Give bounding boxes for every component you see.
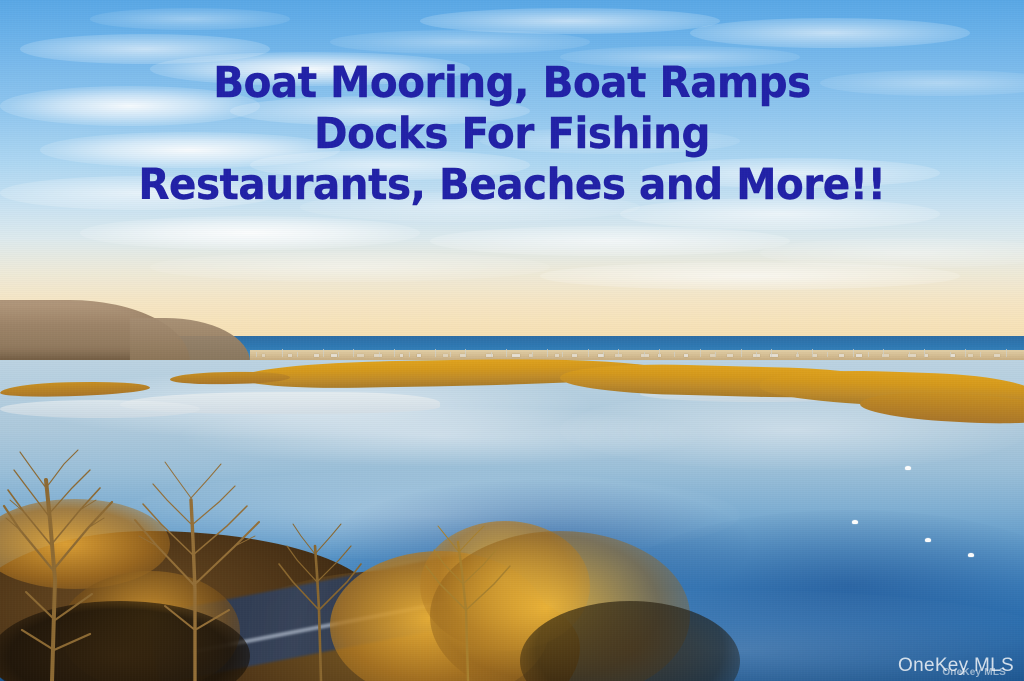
sailboat-mast xyxy=(491,352,492,357)
sailboat-mast xyxy=(256,352,257,357)
sailboat-mast xyxy=(562,352,563,357)
shore-building xyxy=(288,354,292,357)
sailboat-mast xyxy=(603,352,604,357)
sailboat-mast xyxy=(1006,349,1007,357)
sailboat-mast xyxy=(532,352,533,357)
sailboat-mast xyxy=(353,349,354,357)
bare-tree-small xyxy=(255,470,385,681)
listing-photo: Boat Mooring, Boat Ramps Docks For Fishi… xyxy=(0,0,1024,681)
shore-building xyxy=(357,354,364,357)
sailboat-mast xyxy=(659,349,660,357)
sailboat-mast xyxy=(797,352,798,357)
shore-building xyxy=(951,354,955,357)
sailboat-mast xyxy=(588,349,589,357)
water-bird xyxy=(852,520,858,524)
sailboat-mast xyxy=(323,349,324,357)
sailboat-mast xyxy=(883,349,884,357)
shore-building xyxy=(417,354,421,357)
sailboat-mast xyxy=(618,349,619,357)
shore-building xyxy=(968,354,973,357)
shore-building xyxy=(925,354,928,357)
sailboat-mast xyxy=(756,352,757,357)
sailboat-mast xyxy=(741,349,742,357)
sailboat-mast xyxy=(297,352,298,357)
caption-overlay: Boat Mooring, Boat Ramps Docks For Fishi… xyxy=(0,62,1024,215)
sailboat-mast xyxy=(644,352,645,357)
shore-building xyxy=(512,354,520,357)
bare-tree-right xyxy=(400,480,540,681)
sailboat-mast xyxy=(812,349,813,357)
sailboat-mast xyxy=(715,352,716,357)
sailboat-mast xyxy=(282,349,283,357)
shore-building xyxy=(641,354,649,357)
shore-building xyxy=(400,354,403,357)
shore-building xyxy=(314,354,319,357)
sailboat-mast xyxy=(771,349,772,357)
sailboat-mast xyxy=(379,352,380,357)
shore-building xyxy=(684,354,688,357)
sailboat-mast xyxy=(924,349,925,357)
shore-building xyxy=(572,354,577,357)
sailboat-mast xyxy=(435,349,436,357)
shore-building xyxy=(555,354,559,357)
sailboat-mast xyxy=(700,349,701,357)
sailboat-mast xyxy=(450,352,451,357)
sailboat-mast xyxy=(853,349,854,357)
sailboat-mast xyxy=(965,349,966,357)
shore-building xyxy=(813,354,817,357)
water-bird xyxy=(968,553,974,557)
sailboat-mast xyxy=(674,352,675,357)
sailboat-mast xyxy=(868,352,869,357)
shore-building xyxy=(994,354,1000,357)
shore-building xyxy=(331,354,337,357)
marina-buildings xyxy=(250,345,1024,357)
sailboat-mast xyxy=(394,349,395,357)
shore-building xyxy=(262,354,265,357)
caption-line-3: Restaurants, Beaches and More!! xyxy=(31,164,994,207)
sailboat-mast xyxy=(506,349,507,357)
caption-line-1: Boat Mooring, Boat Ramps xyxy=(31,62,994,105)
water-bird xyxy=(925,538,931,542)
caption-line-2: Docks For Fishing xyxy=(31,113,994,156)
sailboat-mast xyxy=(465,349,466,357)
sailboat-mast xyxy=(950,352,951,357)
shore-building xyxy=(443,354,448,357)
sailboat-mast xyxy=(547,349,548,357)
sailboat-mast xyxy=(980,352,981,357)
shore-building xyxy=(727,354,733,357)
sailboat-mast xyxy=(338,352,339,357)
water-bird xyxy=(905,466,911,470)
sailboat-mast xyxy=(827,352,828,357)
sailboat-mast xyxy=(909,352,910,357)
sailboat-mast xyxy=(409,352,410,357)
shore-building xyxy=(856,354,862,357)
shore-building xyxy=(839,354,844,357)
shore-building xyxy=(374,354,382,357)
